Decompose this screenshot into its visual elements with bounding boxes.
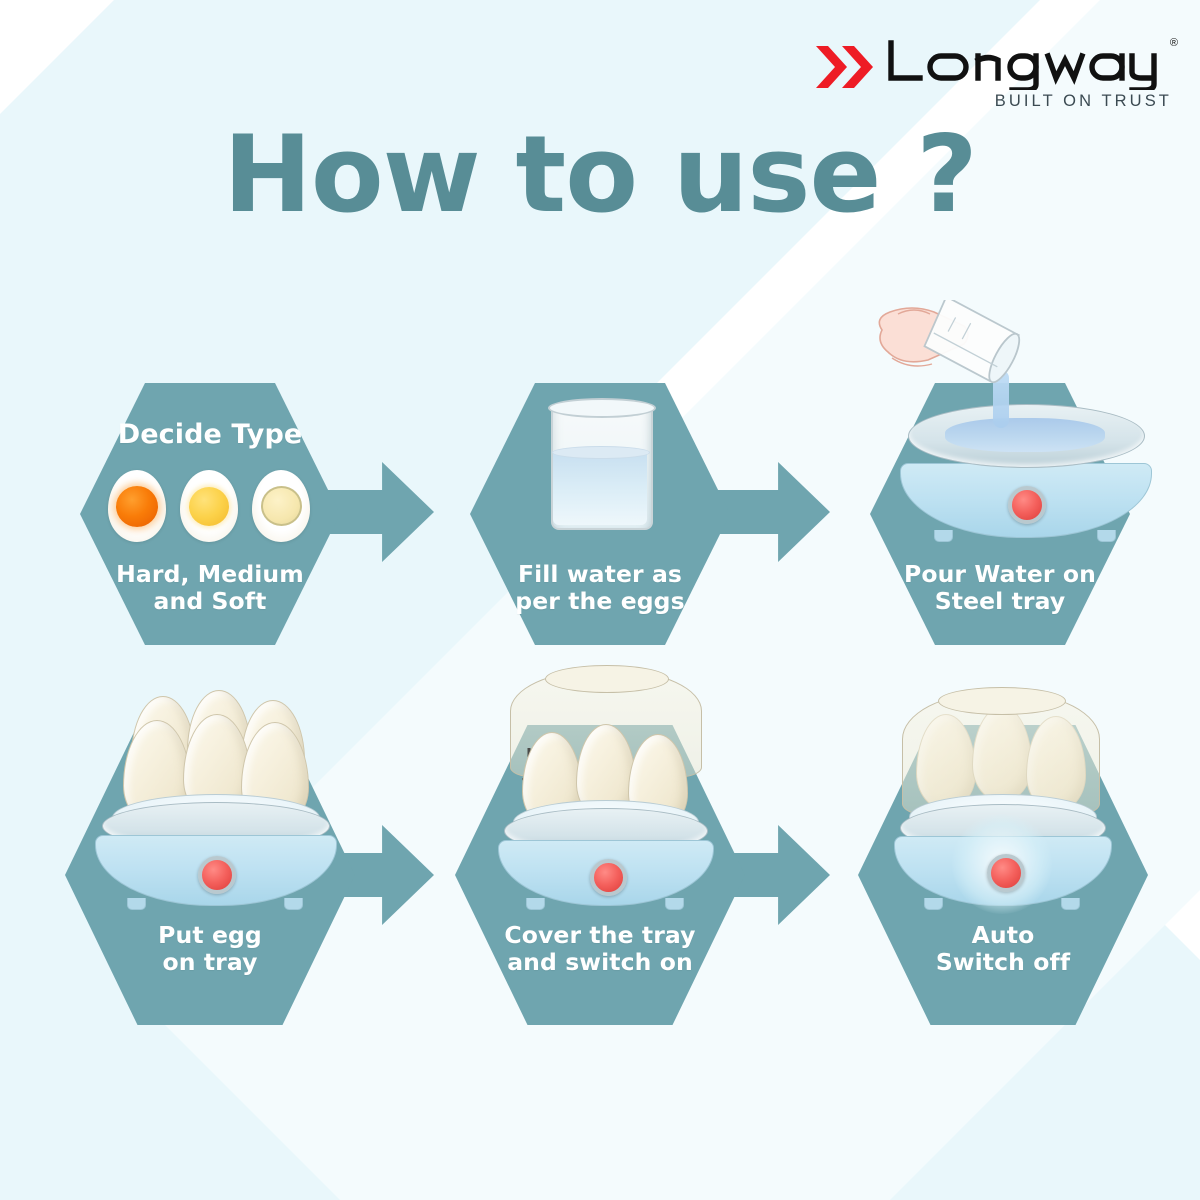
page-title: How to use ? <box>0 122 1200 228</box>
cooker-power-button-5[interactable] <box>590 859 627 896</box>
brand-wordmark: ® <box>886 38 1176 88</box>
beaker-rim <box>548 398 656 418</box>
step-4-caption-line-1: Put egg <box>65 922 355 949</box>
cooker-foot-left-3 <box>934 530 953 542</box>
step-1-heading: Decide Type <box>80 420 340 451</box>
step-1-caption-line-2: and Soft <box>80 588 340 615</box>
brand-logo: ® BUILT ON TRUST <box>814 38 1174 118</box>
step-3-caption-line-1: Pour Water on <box>870 561 1130 588</box>
registered-trademark-symbol: ® <box>1170 37 1178 49</box>
yolk-soft <box>261 486 302 526</box>
water-pool-3 <box>945 418 1105 452</box>
cooker-foot-right-4 <box>284 898 303 910</box>
cooker-glowing-button-icon <box>888 688 1118 918</box>
cooker-power-button-3[interactable] <box>1008 486 1046 524</box>
step-1-caption-line-1: Hard, Medium <box>80 561 340 588</box>
step-3-caption-line-2: Steel tray <box>870 588 1130 615</box>
step-arrow-2 <box>712 462 830 562</box>
beaker-water <box>553 451 647 525</box>
step-5-caption-line-2: and switch on <box>455 949 745 976</box>
step-6-caption-line-2: Switch off <box>858 949 1148 976</box>
step-2-caption-line-1: Fill water as <box>470 561 730 588</box>
cooker-power-button-6[interactable] <box>987 854 1025 892</box>
cooker-foot-left-5 <box>526 898 545 910</box>
egg-half-hard <box>108 470 166 542</box>
cooker-power-button-4[interactable] <box>198 856 236 894</box>
cooker-foot-left-4 <box>127 898 146 910</box>
cooker-foot-right-3 <box>1097 530 1116 542</box>
step-5-caption-line-1: Cover the tray <box>455 922 745 949</box>
longway-wordmark-icon <box>886 38 1176 90</box>
infographic-canvas: ® BUILT ON TRUST How to use ? Decide Typ… <box>0 0 1200 1200</box>
egg-half-soft <box>252 470 310 542</box>
double-chevron-icon <box>814 44 876 90</box>
egg-halves-icon <box>108 470 310 542</box>
beaker-water-surface <box>552 446 650 459</box>
hand-pouring-water-icon <box>862 300 1182 560</box>
cooker-foot-right-5 <box>665 898 684 910</box>
cooker-foot-left-6 <box>924 898 943 910</box>
step-2-caption-line-2: per the eggs <box>470 588 730 615</box>
measuring-beaker-icon <box>551 398 649 528</box>
cooker-foot-right-6 <box>1061 898 1080 910</box>
hand-with-cup-icon <box>868 300 1058 410</box>
step-6-caption-line-1: Auto <box>858 922 1148 949</box>
lid-dome-top-5 <box>545 665 669 693</box>
step-4-caption-line-2: on tray <box>65 949 355 976</box>
egg-half-medium <box>180 470 238 542</box>
yolk-hard <box>116 486 158 527</box>
lid-closing-icon <box>490 662 720 912</box>
lid-dome-top-6 <box>938 687 1065 715</box>
brand-tagline: BUILT ON TRUST <box>995 92 1172 111</box>
yolk-medium <box>189 487 229 526</box>
eggs-on-tray-icon <box>95 690 335 905</box>
